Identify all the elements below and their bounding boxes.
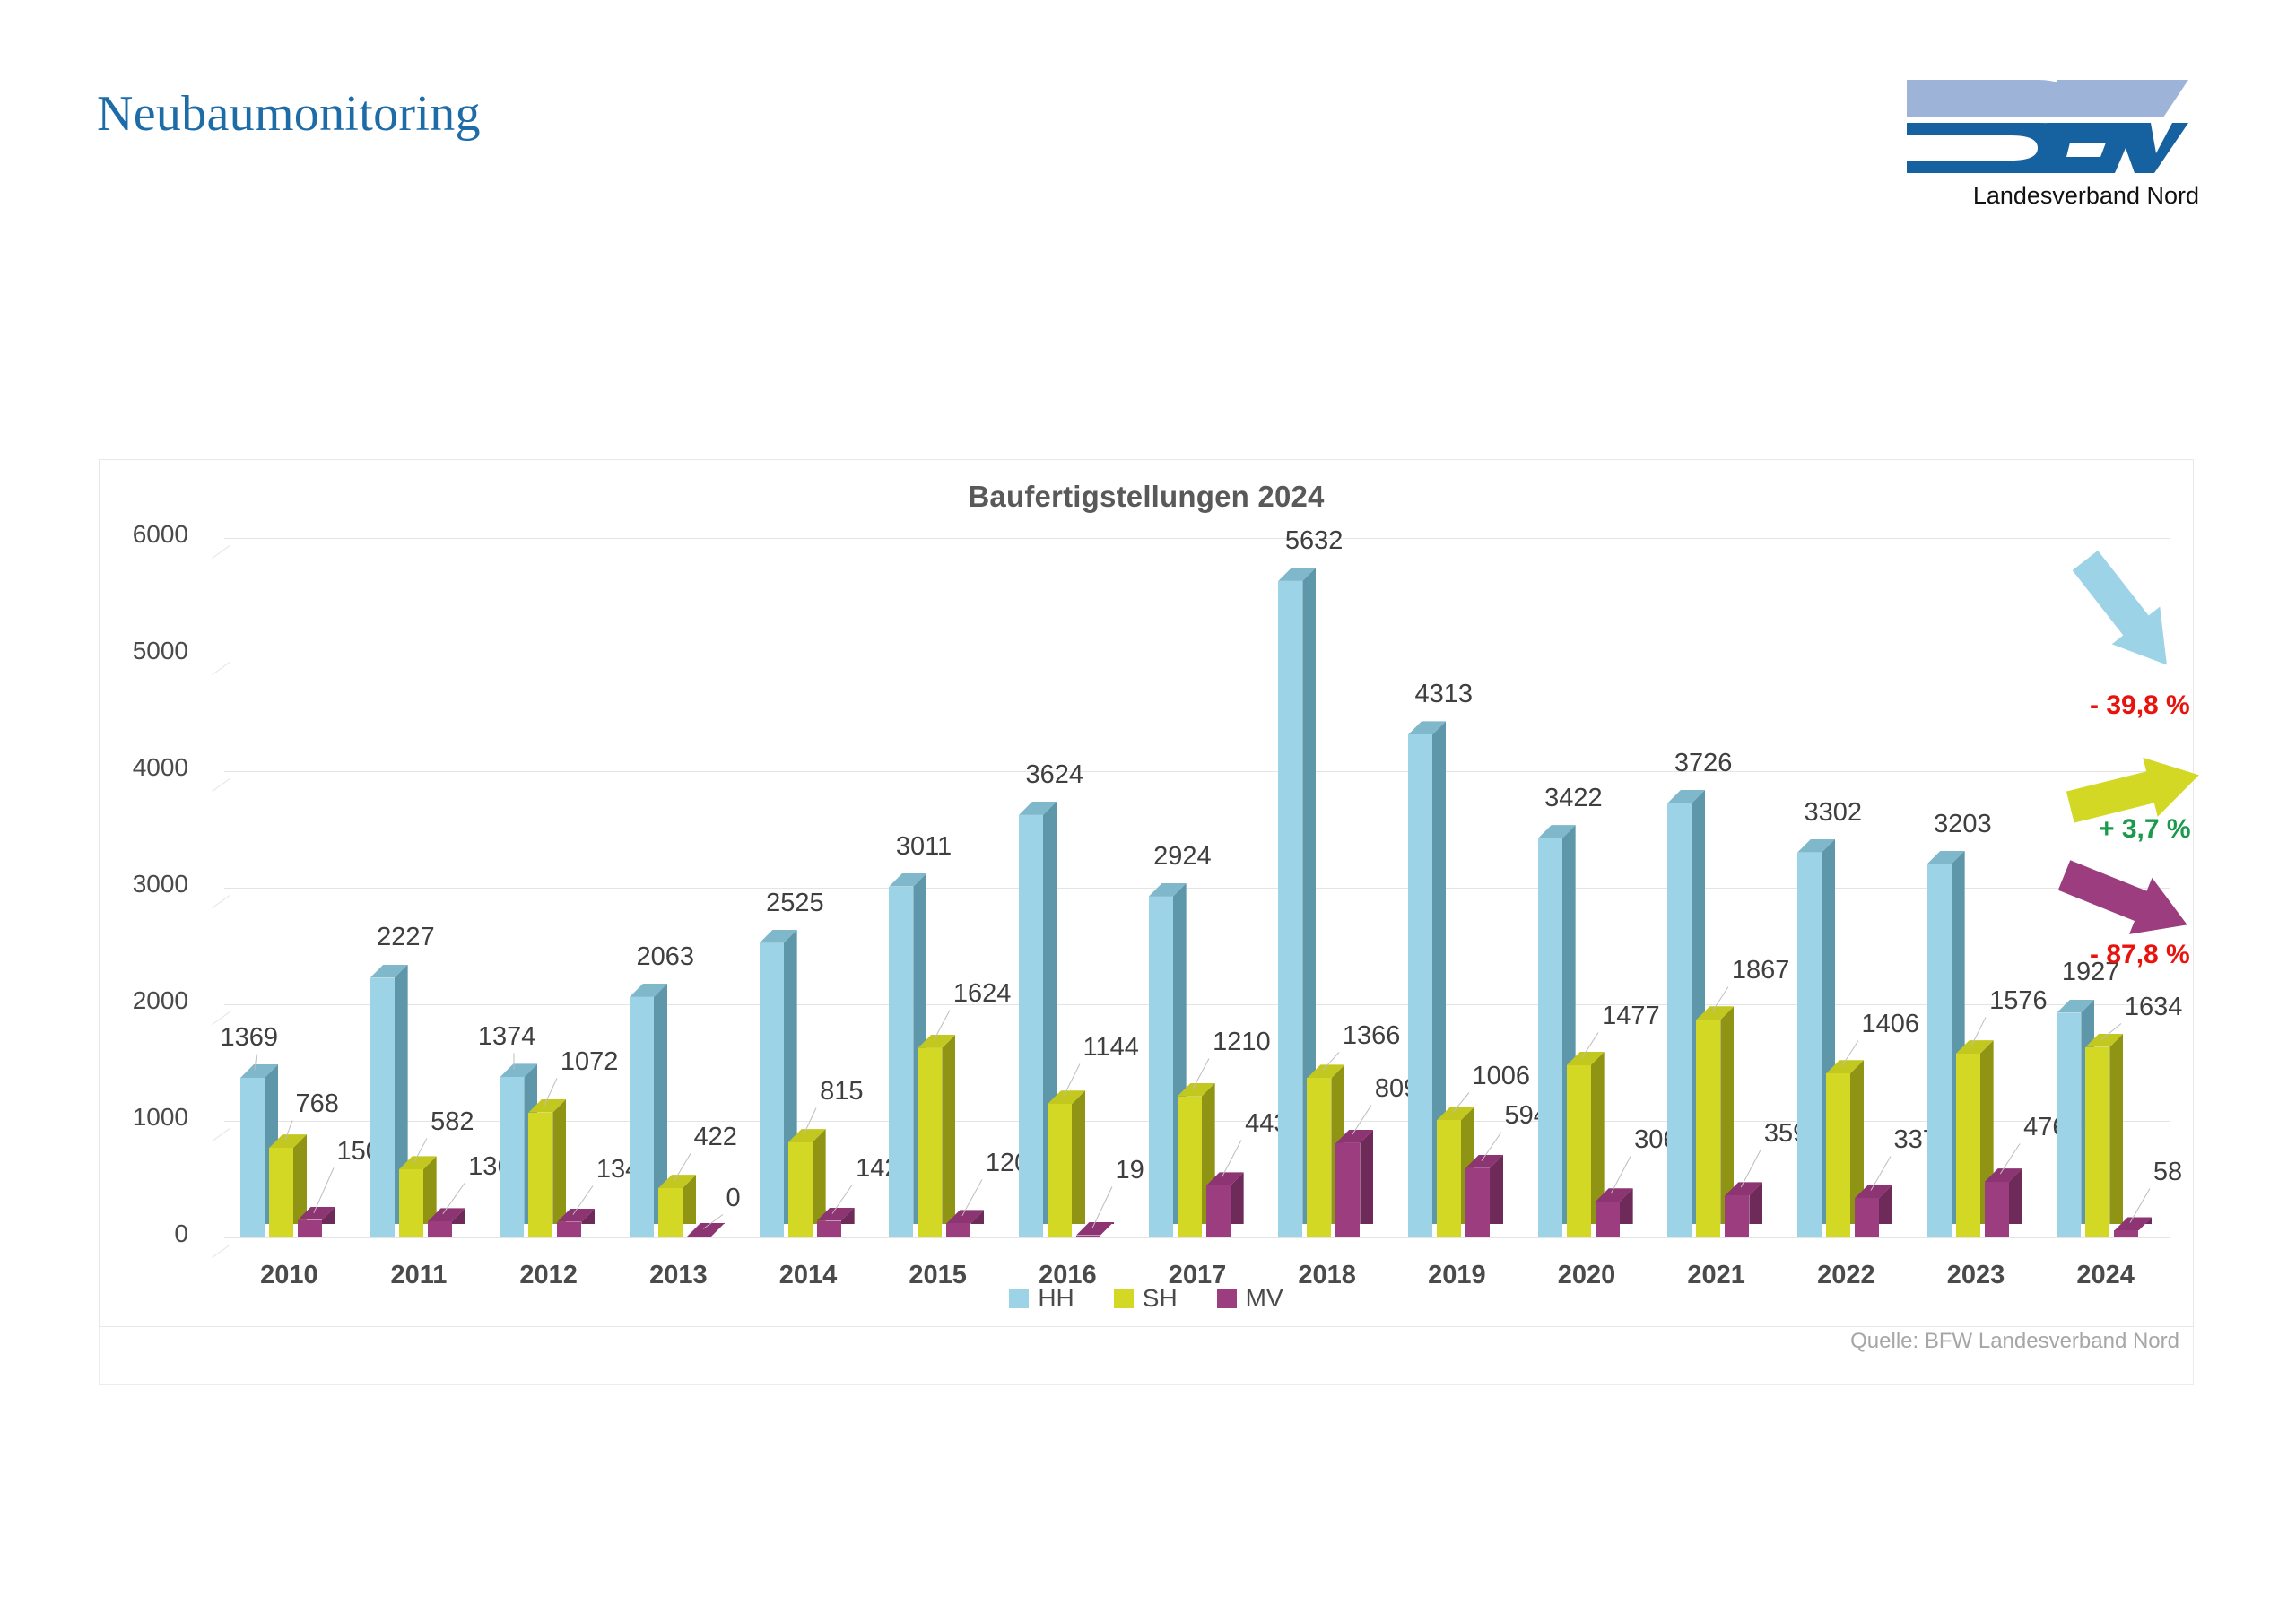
bar-front-face: [1538, 838, 1562, 1237]
bar-front-face: [687, 1237, 711, 1237]
bar-front-face: [240, 1078, 265, 1237]
bar-value-label: 2227: [377, 923, 435, 952]
bar-value-label: 1072: [561, 1047, 619, 1077]
bar-side-face: [1360, 1130, 1373, 1224]
bar-front-face: [1076, 1236, 1100, 1237]
bar-front-face: [1465, 1168, 1490, 1237]
bar-value-label: 19: [1116, 1156, 1144, 1185]
bar-sh-2022[interactable]: [1826, 1073, 1850, 1237]
bar-front-face: [1048, 1104, 1072, 1237]
bar-value-label: 582: [430, 1107, 474, 1137]
bar-front-face: [370, 978, 395, 1238]
bar-mv-2014[interactable]: [817, 1221, 841, 1237]
bar-value-label: 1477: [1602, 1002, 1660, 1031]
bar-group: 32031576476: [1922, 538, 2052, 1237]
bar-value-label: 2525: [766, 889, 824, 918]
bar-value-label: 3302: [1805, 798, 1863, 828]
bar-sh-2018[interactable]: [1307, 1078, 1331, 1237]
bar-value-label: 1624: [953, 979, 1012, 1009]
bar-front-face: [1278, 581, 1302, 1237]
bar-sh-2017[interactable]: [1178, 1097, 1202, 1237]
bar-group: 2227582136: [365, 538, 495, 1237]
bar-hh-2017[interactable]: [1149, 897, 1173, 1237]
bar-value-label: 3203: [1934, 810, 1992, 839]
bar-group: 2525815142: [754, 538, 884, 1237]
bar-value-label: 1366: [1343, 1021, 1401, 1051]
bar-front-face: [1307, 1078, 1331, 1237]
bar-front-face: [1567, 1065, 1591, 1237]
bar-value-label: 1006: [1473, 1062, 1531, 1091]
bar-value-label: 58: [2153, 1158, 2182, 1187]
bar-front-face: [2114, 1230, 2138, 1237]
bar-hh-2024[interactable]: [2057, 1013, 2081, 1238]
bar-hh-2022[interactable]: [1797, 853, 1822, 1237]
bar-mv-2022[interactable]: [1855, 1198, 1879, 1237]
bar-group: 20634220: [624, 538, 754, 1237]
bar-value-label: 3624: [1026, 760, 1084, 790]
bar-front-face: [1855, 1198, 1879, 1237]
bar-front-face: [528, 1113, 552, 1237]
bar-front-face: [1437, 1120, 1461, 1237]
bar-side-face: [2109, 1034, 2123, 1224]
bar-sh-2020[interactable]: [1567, 1065, 1591, 1237]
y-axis-tick-label: 0: [81, 1219, 188, 1248]
bar-front-face: [399, 1169, 423, 1237]
bar-value-label: 2924: [1153, 842, 1212, 872]
bar-sh-2023[interactable]: [1956, 1054, 1980, 1237]
bar-mv-2020[interactable]: [1596, 1202, 1620, 1237]
bar-sh-2011[interactable]: [399, 1169, 423, 1237]
bar-hh-2021[interactable]: [1667, 803, 1692, 1237]
bar-front-face: [1696, 1020, 1720, 1237]
bar-front-face: [658, 1188, 683, 1237]
label-leader-line: [313, 1167, 334, 1212]
bar-hh-2011[interactable]: [370, 978, 395, 1238]
bar-front-face: [557, 1222, 581, 1237]
bar-sh-2016[interactable]: [1048, 1104, 1072, 1237]
bar-hh-2019[interactable]: [1408, 734, 1432, 1237]
bar-sh-2012[interactable]: [528, 1113, 552, 1237]
bar-front-face: [500, 1077, 524, 1237]
bar-front-face: [1019, 815, 1043, 1237]
bar-side-face: [552, 1099, 566, 1224]
bar-hh-2023[interactable]: [1927, 864, 1952, 1237]
bar-value-label: 422: [694, 1123, 737, 1152]
legend-swatch-icon: [1114, 1289, 1134, 1308]
bar-value-label: 3011: [896, 832, 952, 862]
hh-trend-arrow-icon: [2059, 581, 2194, 646]
bar-mv-2019[interactable]: [1465, 1168, 1490, 1237]
bar-front-face: [1725, 1195, 1749, 1237]
bar-front-face: [1927, 864, 1952, 1237]
bar-hh-2020[interactable]: [1538, 838, 1562, 1237]
label-leader-line: [1091, 1186, 1112, 1228]
bar-side-face: [813, 1129, 826, 1224]
bar-value-label: 1210: [1213, 1028, 1271, 1057]
bar-value-label: 1374: [478, 1022, 536, 1052]
bar-mv-2010[interactable]: [298, 1220, 322, 1238]
bar-value-label: 1406: [1862, 1010, 1920, 1039]
bar-value-label: 815: [820, 1077, 863, 1107]
bar-front-face: [1797, 853, 1822, 1237]
bar-group: 30111624120: [883, 538, 1013, 1237]
hh-trend-label: - 39,8 %: [2090, 690, 2190, 721]
bar-sh-2024[interactable]: [2085, 1047, 2109, 1237]
bar-front-face: [1596, 1202, 1620, 1237]
bar-value-label: 1369: [221, 1023, 279, 1053]
bar-front-face: [1335, 1143, 1360, 1237]
legend-item-sh[interactable]: SH: [1114, 1284, 1178, 1313]
bar-sh-2010[interactable]: [269, 1148, 293, 1237]
sh-trend-label: + 3,7 %: [2099, 814, 2191, 845]
chart-title: Baufertigstellungen 2024: [99, 480, 2194, 514]
bar-side-face: [942, 1035, 955, 1224]
bar-hh-2013[interactable]: [630, 997, 654, 1237]
bar-mv-2011[interactable]: [428, 1221, 452, 1237]
legend-item-hh[interactable]: HH: [1009, 1284, 1074, 1313]
y-axis-tick-label: 1000: [81, 1103, 188, 1132]
bar-group: 56321366809: [1273, 538, 1403, 1237]
bar-front-face: [1206, 1185, 1231, 1237]
bar-mv-2018[interactable]: [1335, 1143, 1360, 1237]
bar-front-face: [298, 1220, 322, 1238]
legend-swatch-icon: [1009, 1289, 1029, 1308]
bar-mv-2013[interactable]: [687, 1237, 711, 1237]
bar-value-label: 1634: [2125, 993, 2183, 1022]
y-axis-tick-label: 4000: [81, 753, 188, 782]
bar-mv-2012[interactable]: [557, 1222, 581, 1237]
bar-hh-2016[interactable]: [1019, 815, 1043, 1237]
bar-hh-2014[interactable]: [760, 943, 784, 1237]
bfw-logo: Landesverband Nord: [1903, 76, 2199, 211]
bar-value-label: 2063: [637, 942, 695, 972]
bar-front-face: [2085, 1047, 2109, 1237]
y-axis-tick-label: 2000: [81, 986, 188, 1015]
legend-label: MV: [1246, 1284, 1283, 1312]
chart-legend: HHSHMV: [99, 1284, 2194, 1313]
bar-value-label: 768: [296, 1089, 339, 1119]
bfw-logo-mark: [1903, 76, 2188, 175]
bar-front-face: [1826, 1073, 1850, 1237]
bar-group: 34221477306: [1533, 538, 1663, 1237]
bar-mv-2015[interactable]: [946, 1223, 970, 1237]
bar-group: 37261867359: [1662, 538, 1792, 1237]
bar-side-face: [1072, 1090, 1085, 1224]
bar-front-face: [1149, 897, 1173, 1237]
bar-front-face: [788, 1142, 813, 1237]
bar-sh-2019[interactable]: [1437, 1120, 1461, 1237]
bar-mv-2017[interactable]: [1206, 1185, 1231, 1237]
mv-trend-arrow-icon: [2059, 868, 2194, 933]
bar-front-face: [2057, 1013, 2081, 1238]
bar-front-face: [946, 1223, 970, 1237]
bar-sh-2014[interactable]: [788, 1142, 813, 1237]
y-axis-tick-label: 6000: [81, 520, 188, 549]
bar-value-label: 0: [726, 1184, 741, 1213]
bfw-logo-icon: [1903, 76, 2188, 177]
label-leader-line: [513, 1054, 514, 1070]
bar-group: 1369768150: [235, 538, 365, 1237]
bar-mv-2021[interactable]: [1725, 1195, 1749, 1237]
bar-mv-2024[interactable]: [2114, 1230, 2138, 1237]
bar-front-face: [1667, 803, 1692, 1237]
bar-group: 13741072134: [494, 538, 624, 1237]
bar-front-face: [817, 1221, 841, 1237]
bar-sh-2013[interactable]: [658, 1188, 683, 1237]
legend-swatch-icon: [1217, 1289, 1237, 1308]
bar-front-face: [630, 997, 654, 1237]
bar-hh-2015[interactable]: [889, 887, 913, 1237]
bar-hh-2018[interactable]: [1278, 581, 1302, 1237]
bar-mv-2016[interactable]: [1076, 1236, 1100, 1237]
y-axis-tick-label: 3000: [81, 870, 188, 898]
source-note: Quelle: BFW Landesverband Nord: [1850, 1329, 2179, 1354]
bar-group: 33021406337: [1792, 538, 1922, 1237]
gridline: [224, 1237, 2170, 1238]
bar-side-face: [293, 1134, 307, 1224]
legend-item-mv[interactable]: MV: [1217, 1284, 1283, 1313]
bar-front-face: [760, 943, 784, 1237]
bar-front-face: [428, 1221, 452, 1237]
bar-sh-2021[interactable]: [1696, 1020, 1720, 1237]
bar-value-label: 5632: [1285, 526, 1344, 556]
bar-front-face: [1985, 1182, 2009, 1237]
bar-front-face: [918, 1048, 942, 1237]
bar-front-face: [1408, 734, 1432, 1237]
mv-trend-label: - 87,8 %: [2090, 940, 2190, 970]
bar-value-label: 1144: [1083, 1033, 1139, 1063]
legend-label: SH: [1143, 1284, 1178, 1312]
bar-front-face: [889, 887, 913, 1237]
y-axis-tick-label: 5000: [81, 637, 188, 665]
bar-value-label: 3422: [1544, 784, 1603, 813]
bar-front-face: [1956, 1054, 1980, 1237]
bar-value-label: 1576: [1989, 986, 2048, 1016]
bar-value-label: 1867: [1732, 956, 1790, 985]
legend-label: HH: [1038, 1284, 1074, 1312]
plot-area: 0100020003000400050006000136976815020102…: [224, 538, 2170, 1237]
bar-value-label: 4313: [1415, 680, 1474, 709]
bar-front-face: [269, 1148, 293, 1237]
bar-group: 29241210443: [1144, 538, 1274, 1237]
bar-mv-2023[interactable]: [1985, 1182, 2009, 1237]
bar-front-face: [1178, 1097, 1202, 1237]
bar-hh-2012[interactable]: [500, 1077, 524, 1237]
bar-hh-2010[interactable]: [240, 1078, 265, 1237]
bar-group: 3624114419: [1013, 538, 1144, 1237]
bfw-logo-subtitle: Landesverband Nord: [1973, 182, 2199, 210]
bar-group: 43131006594: [1403, 538, 1533, 1237]
bar-sh-2015[interactable]: [918, 1048, 942, 1237]
page-title: Neubaumonitoring: [97, 85, 481, 143]
bar-value-label: 3726: [1674, 749, 1733, 778]
